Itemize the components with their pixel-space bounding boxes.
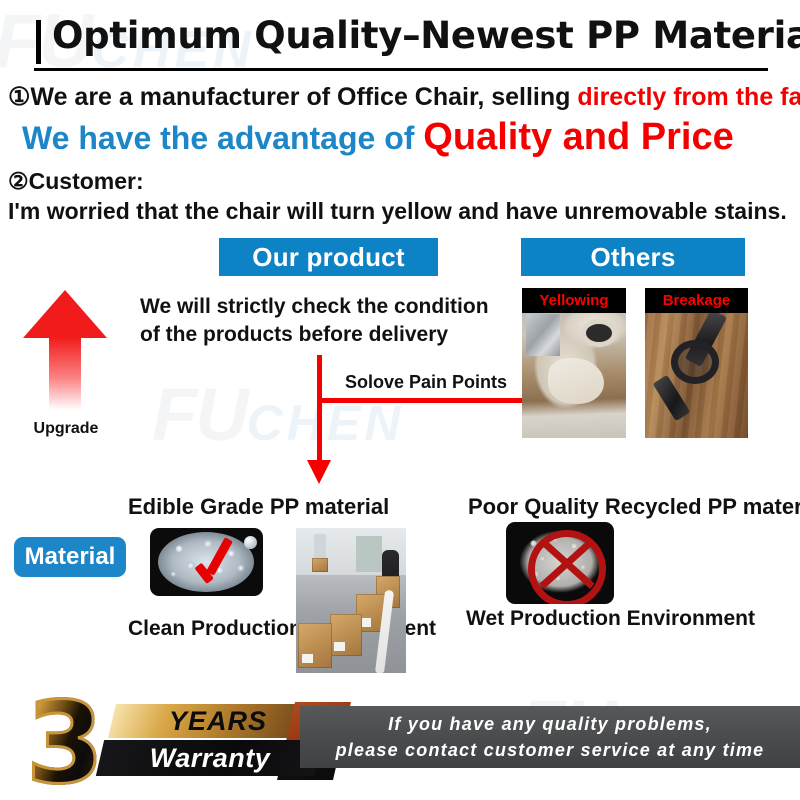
title-divider: [34, 68, 768, 71]
upgrade-arrow-shaft: [49, 337, 81, 410]
connector-label: Solove Pain Points: [345, 372, 507, 393]
warranty-banner: 3 YEARS Warranty If you have any quality…: [0, 686, 800, 800]
carton-box: [312, 558, 328, 572]
watermark-fu-text: FU: [152, 373, 247, 456]
warranty-message-line-2: please contact customer service at any t…: [336, 737, 765, 763]
bad-material-heading: Poor Quality Recycled PP material: [468, 494, 800, 520]
customer-label: ②Customer:: [8, 168, 144, 195]
warranty-word-label: Warranty: [104, 742, 316, 774]
good-material-heading: Edible Grade PP material: [128, 494, 389, 520]
defect-photo-breakage: Breakage: [645, 288, 748, 438]
bad-material-caption: Wet Production Environment: [466, 605, 755, 632]
intro-line-2: We have the advantage of Quality and Pri…: [22, 116, 734, 159]
checkmark-icon: [194, 538, 240, 586]
down-arrow-head: [307, 460, 331, 484]
warranty-number: 3: [26, 688, 104, 800]
yellowing-hole-detail: [586, 324, 612, 342]
upgrade-arrow-icon: [23, 290, 107, 410]
connector-horizontal-line: [322, 398, 552, 403]
upgrade-arrow-head: [23, 290, 107, 338]
our-product-header: Our product: [219, 238, 438, 276]
box-label: [334, 642, 345, 651]
pellet-highlight: [244, 536, 257, 549]
infographic-page: FUCHEN FUCHEN FUCHEN Optimum Quality–New…: [0, 0, 800, 800]
warranty-message: If you have any quality problems, please…: [300, 708, 800, 766]
material-badge-label: Material: [25, 543, 116, 571]
box-label: [302, 654, 313, 663]
prohibition-x-icon: [528, 530, 606, 604]
yellowing-stain-detail: [548, 358, 604, 404]
intro-line-1-red: directly from the factory.: [577, 83, 800, 111]
warehouse-door: [356, 536, 382, 572]
watermark-chen-text: CHEN: [247, 395, 405, 451]
good-pellets-photo: [150, 528, 263, 596]
defect-caption: Yellowing: [522, 288, 626, 313]
connector-vertical-line: [317, 355, 322, 460]
down-arrow-icon: [307, 452, 331, 484]
warehouse-photo: [296, 528, 406, 673]
customer-marker-2: ②: [8, 168, 29, 194]
intro-line-2-blue: We have the advantage of: [22, 120, 423, 156]
upgrade-label: Upgrade: [24, 420, 108, 438]
page-header: Optimum Quality–Newest PP Material: [0, 14, 800, 74]
defect-photo-yellowing: Yellowing: [522, 288, 626, 438]
our-product-label: Our product: [252, 242, 404, 273]
customer-concern: I'm worried that the chair will turn yel…: [8, 198, 787, 225]
intro-line-1-black: We are a manufacturer of Office Chair, s…: [30, 83, 577, 111]
broken-part-2: [671, 340, 719, 384]
bad-pellets-photo: [506, 522, 614, 604]
others-header: Others: [521, 238, 745, 276]
customer-label-text: Customer:: [29, 168, 144, 194]
warranty-message-line-1: If you have any quality problems,: [388, 711, 712, 737]
intro-marker-1: ①: [8, 83, 30, 111]
carton-box: [330, 614, 362, 656]
intro-line-1: ①We are a manufacturer of Office Chair, …: [8, 82, 800, 112]
defect-caption: Breakage: [645, 288, 748, 313]
warranty-years-label: YEARS: [128, 706, 308, 736]
our-product-description: We will strictly check the condition of …: [140, 293, 510, 348]
page-title: Optimum Quality–Newest PP Material: [52, 14, 800, 57]
intro-line-2-red: Quality and Price: [423, 116, 733, 158]
others-label: Others: [590, 242, 675, 273]
material-badge: Material: [14, 537, 126, 577]
carton-box: [298, 623, 332, 668]
title-accent-bar: [36, 20, 41, 64]
